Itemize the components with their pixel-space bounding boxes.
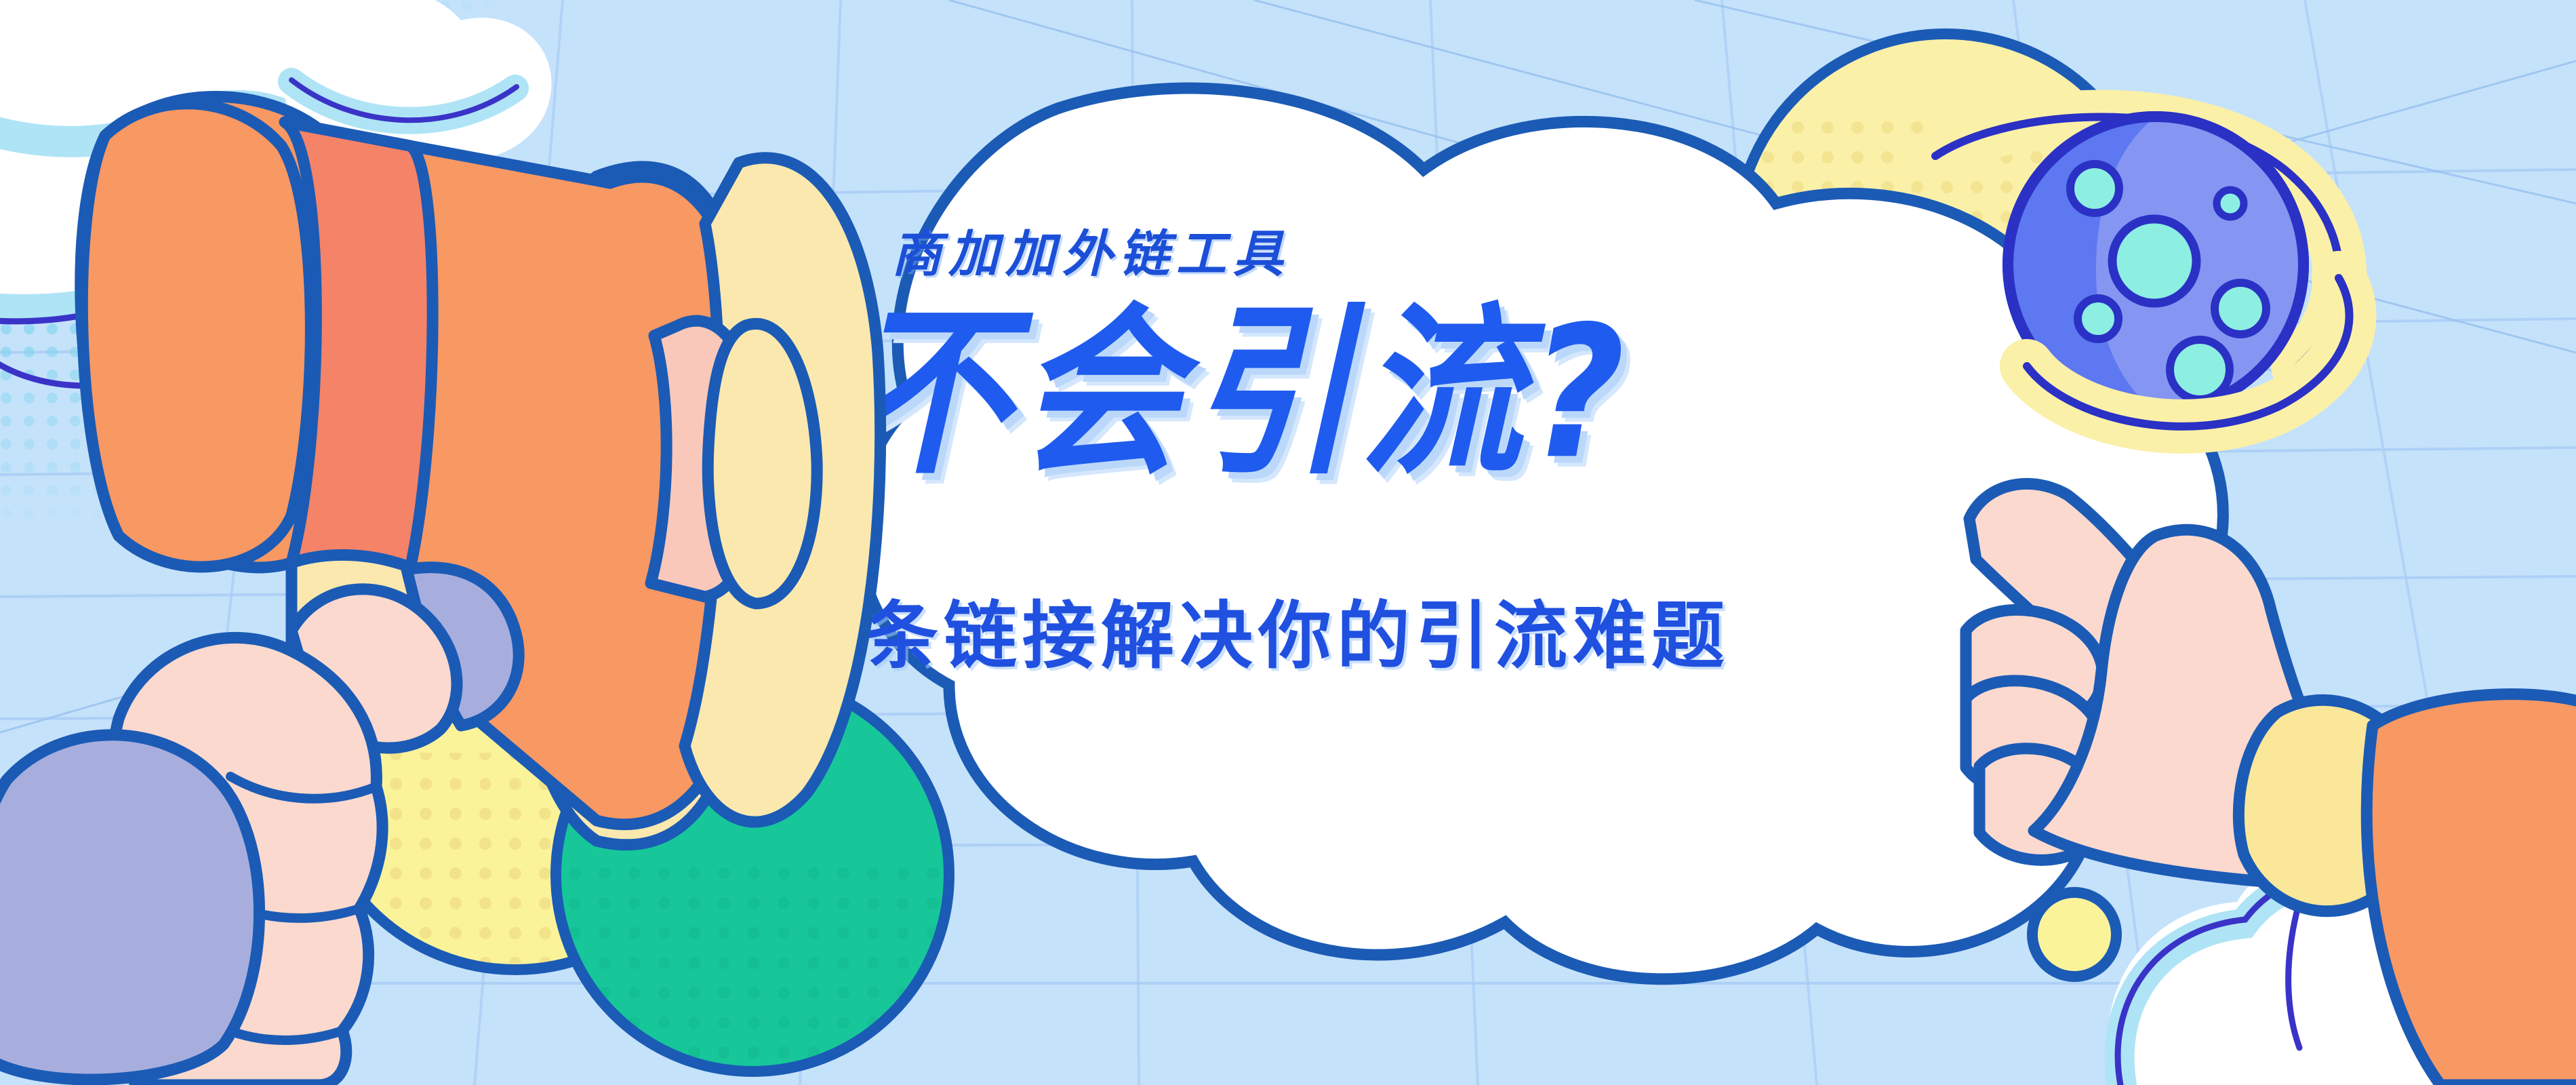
planet-crater-icon — [2170, 340, 2230, 399]
pointing-hand-icon — [1966, 484, 2576, 1085]
planet-crater-icon — [2078, 298, 2118, 339]
promo-banner: 商加加外链工具 不会引流? 一条链接解决你的引流难题 — [0, 0, 2576, 1085]
planet-crater-icon — [2215, 283, 2266, 334]
planet-crater-icon — [2217, 190, 2244, 217]
hand-holding-megaphone-icon — [0, 589, 457, 1085]
foreground-illustrations-layer — [0, 0, 2576, 1085]
saturn-planet-icon — [1935, 117, 2350, 427]
planet-crater-large-icon — [2112, 219, 2196, 303]
planet-crater-icon — [2070, 164, 2119, 213]
